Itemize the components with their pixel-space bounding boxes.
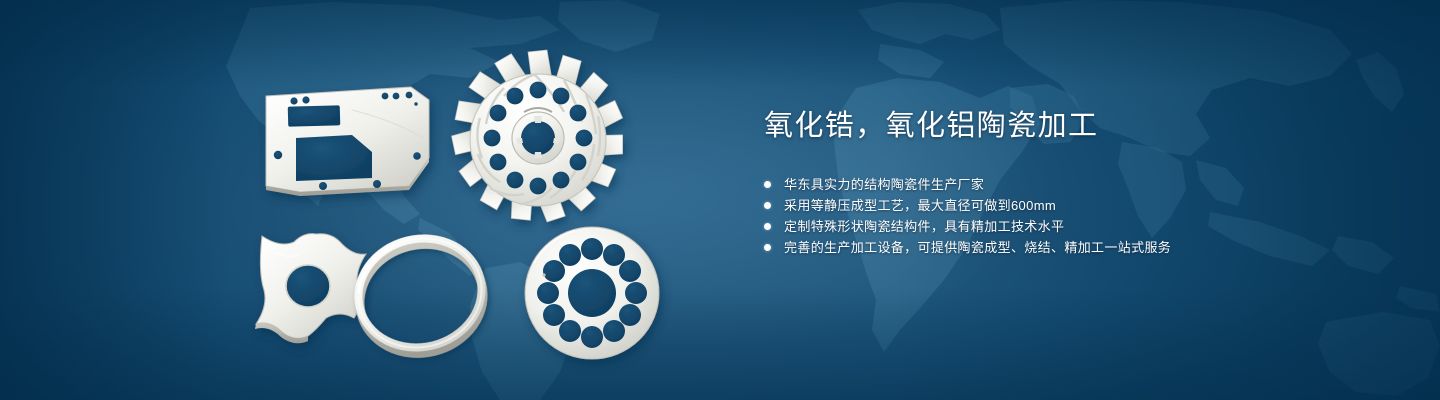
banner-copy: 氧化锆，氧化铝陶瓷加工 华东具实力的结构陶瓷件生产厂家 采用等静压成型工艺，最大…: [764, 108, 1384, 258]
list-item-label: 完善的生产加工设备，可提供陶瓷成型、烧结、精加工一站式服务: [784, 237, 1171, 258]
ceramic-cross-part: [255, 234, 366, 344]
list-item-label: 采用等静压成型工艺，最大直径可做到600mm: [784, 195, 1056, 216]
bullet-dot-icon: [764, 244, 771, 251]
bullet-dot-icon: [764, 181, 771, 188]
page-title: 氧化锆，氧化铝陶瓷加工: [764, 108, 1384, 145]
list-item-label: 华东具实力的结构陶瓷件生产厂家: [784, 174, 984, 195]
hero-banner: 氧化锆，氧化铝陶瓷加工 华东具实力的结构陶瓷件生产厂家 采用等静压成型工艺，最大…: [0, 0, 1440, 400]
bullet-dot-icon: [764, 202, 771, 209]
ceramic-ring-part: [347, 226, 495, 367]
ceramic-impeller-part: [451, 50, 625, 223]
feature-list: 华东具实力的结构陶瓷件生产厂家 采用等静压成型工艺，最大直径可做到600mm 定…: [764, 174, 1384, 258]
list-item: 完善的生产加工设备，可提供陶瓷成型、烧结、精加工一站式服务: [764, 237, 1384, 258]
bullet-dot-icon: [764, 223, 771, 230]
list-item: 定制特殊形状陶瓷结构件，具有精加工技术水平: [764, 216, 1384, 237]
list-item: 华东具实力的结构陶瓷件生产厂家: [764, 174, 1384, 195]
list-item-label: 定制特殊形状陶瓷结构件，具有精加工技术水平: [784, 216, 1064, 237]
ceramic-products-image: [0, 0, 720, 400]
list-item: 采用等静压成型工艺，最大直径可做到600mm: [764, 195, 1384, 216]
ceramic-plate-part: [266, 87, 429, 196]
ceramic-perforated-disc-part: [525, 227, 659, 359]
